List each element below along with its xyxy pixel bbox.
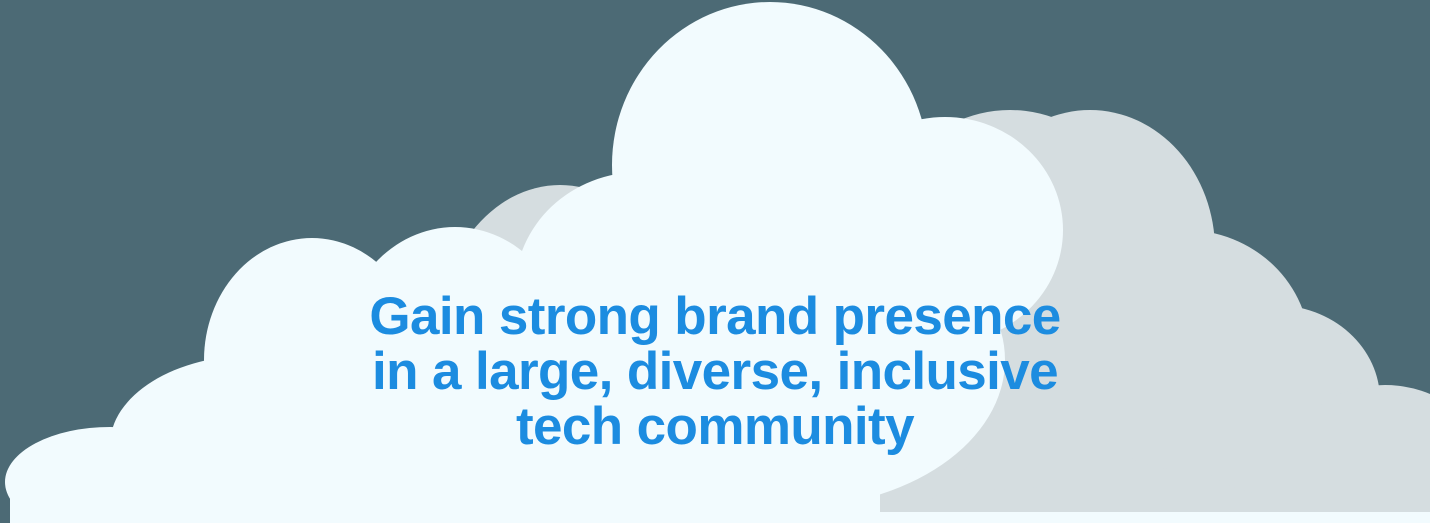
cloud-front-shape (5, 2, 1063, 523)
cloud-bottom-sliver (860, 512, 1430, 523)
cloud-banner: Gain strong brand presence in a large, d… (0, 0, 1430, 523)
cloud-cluster-illustration (0, 0, 1430, 523)
